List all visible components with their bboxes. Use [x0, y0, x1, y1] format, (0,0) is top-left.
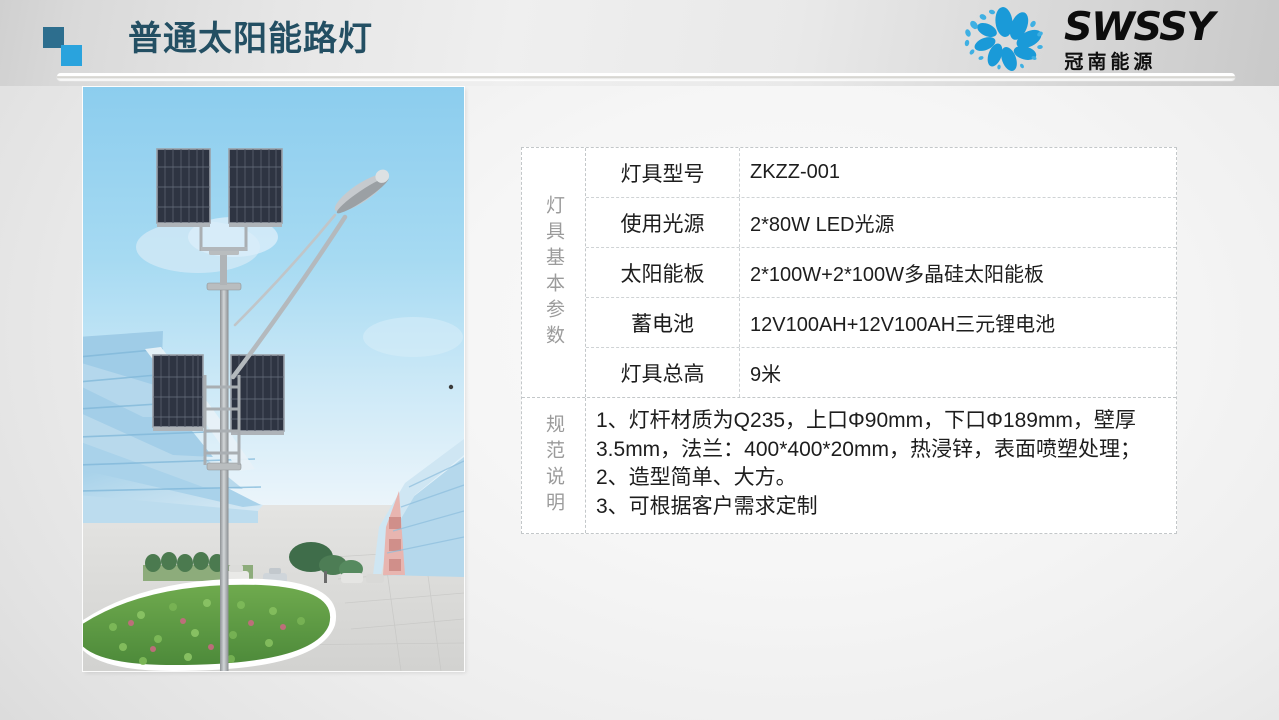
- note-line: 1、灯杆材质为Q235，上口Φ90mm，下口Φ189mm，壁厚3.5mm，法兰：…: [596, 407, 1166, 464]
- table-row: 蓄电池 12V100AH+12V100AH三元锂电池: [586, 298, 1176, 348]
- logo-subtitle: 冠南能源: [1064, 53, 1211, 72]
- page-title: 普通太阳能路灯: [128, 17, 373, 61]
- spec-key: 蓄电池: [586, 298, 740, 347]
- table-row: 灯具总高 9米: [586, 348, 1176, 397]
- note-line: 3、可根据客户需求定制: [596, 493, 1166, 522]
- note-line: 2、造型简单、大方。: [596, 464, 1166, 493]
- logo-wordmark: SWSSY: [1064, 8, 1214, 47]
- spec-value: 12V100AH+12V100AH三元锂电池: [740, 298, 1176, 347]
- spec-notes-body: 1、灯杆材质为Q235，上口Φ90mm，下口Φ189mm，壁厚3.5mm，法兰：…: [586, 398, 1176, 533]
- spec-key: 使用光源: [586, 198, 740, 247]
- table-row: 使用光源 2*80W LED光源: [586, 198, 1176, 248]
- spec-value: 2*100W+2*100W多晶硅太阳能板: [740, 248, 1176, 297]
- spec-key: 灯具总高: [586, 348, 740, 397]
- basic-params-section: 灯具基本参数 灯具型号 ZKZZ-001 使用光源 2*80W LED光源 太阳…: [522, 148, 1176, 398]
- company-logo: SWSSY 冠南能源: [954, 4, 1211, 76]
- spec-value: ZKZZ-001: [740, 148, 1176, 197]
- spec-notes-section: 规范说明 1、灯杆材质为Q235，上口Φ90mm，下口Φ189mm，壁厚3.5m…: [522, 398, 1176, 533]
- table-row: 太阳能板 2*100W+2*100W多晶硅太阳能板: [586, 248, 1176, 298]
- spec-key: 灯具型号: [586, 148, 740, 197]
- spec-value: 9米: [740, 348, 1176, 397]
- spec-notes-label-text: 规范说明: [544, 414, 563, 518]
- spec-value: 2*80W LED光源: [740, 198, 1176, 247]
- decor-square-light-icon: [61, 45, 82, 66]
- basic-params-rows: 灯具型号 ZKZZ-001 使用光源 2*80W LED光源 太阳能板 2*10…: [586, 148, 1176, 397]
- spec-key: 太阳能板: [586, 248, 740, 297]
- logo-text-block: SWSSY 冠南能源: [1064, 8, 1211, 72]
- basic-params-vertical-label: 灯具基本参数: [522, 148, 586, 397]
- spec-notes-vertical-label: 规范说明: [522, 398, 586, 533]
- water-droplet-burst-logo-icon: [954, 6, 1054, 74]
- basic-params-label-text: 灯具基本参数: [544, 195, 563, 351]
- solar-street-light-illustration: [83, 87, 464, 671]
- product-photo: [83, 87, 464, 671]
- table-row: 灯具型号 ZKZZ-001: [586, 148, 1176, 198]
- specification-table: 灯具基本参数 灯具型号 ZKZZ-001 使用光源 2*80W LED光源 太阳…: [521, 147, 1177, 534]
- slide-root: 普通太阳能路灯: [0, 0, 1279, 720]
